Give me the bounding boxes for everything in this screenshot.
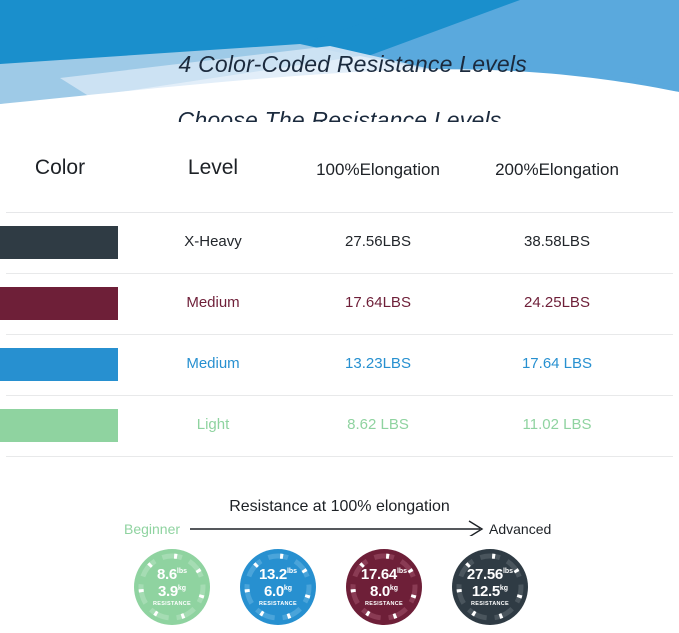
gauge-readout: 27.56lbs 12.5kg RESISTANCE bbox=[451, 548, 529, 626]
gauge-kg-unit: kg bbox=[390, 585, 398, 592]
gauge-caption: RESISTANCE bbox=[259, 602, 297, 608]
gauge-lbs: 13.2lbs bbox=[259, 567, 297, 582]
gauge-lbs: 8.6lbs bbox=[157, 567, 187, 582]
gauge-lbs-unit: lbs bbox=[397, 568, 407, 575]
gauge-kg: 8.0kg bbox=[370, 584, 398, 599]
gauge-caption: RESISTANCE bbox=[153, 602, 191, 608]
gauge-kg: 6.0kg bbox=[264, 584, 292, 599]
gauge-lbs-unit: lbs bbox=[287, 568, 297, 575]
column-header-elongation-200: 200%Elongation bbox=[495, 160, 619, 180]
cell-elongation-200: 24.25LBS bbox=[524, 294, 590, 311]
cell-level: Medium bbox=[186, 294, 239, 311]
table-header-row: Color Level 100%Elongation 200%Elongatio… bbox=[0, 128, 679, 213]
gauge-readout: 8.6lbs 3.9kg RESISTANCE bbox=[133, 548, 211, 626]
gauge-badge: 8.6lbs 3.9kg RESISTANCE bbox=[133, 548, 211, 626]
gauge-kg-value: 8.0 bbox=[370, 583, 390, 600]
title-line-1: 4 Color-Coded Resistance Levels bbox=[178, 51, 526, 77]
gauge-kg: 12.5kg bbox=[472, 584, 508, 599]
gauge-badge: 13.2lbs 6.0kg RESISTANCE bbox=[239, 548, 317, 626]
cell-elongation-100: 8.62 LBS bbox=[347, 416, 409, 433]
gauge-lbs-unit: lbs bbox=[177, 568, 187, 575]
cell-elongation-200: 11.02 LBS bbox=[523, 416, 592, 433]
gauge-caption: RESISTANCE bbox=[365, 602, 403, 608]
scale-label-advanced: Advanced bbox=[489, 521, 551, 537]
column-header-level: Level bbox=[188, 156, 238, 180]
arrow-right-icon bbox=[190, 518, 490, 536]
cell-level: Medium bbox=[186, 355, 239, 372]
gauge-kg: 3.9kg bbox=[158, 584, 186, 599]
gauge-caption: RESISTANCE bbox=[471, 602, 509, 608]
gauge-lbs-value: 13.2 bbox=[259, 566, 287, 583]
table-row: Medium 17.64LBS 24.25LBS bbox=[0, 274, 679, 335]
table-row: Medium 13.23LBS 17.64 LBS bbox=[0, 335, 679, 396]
scale-label-beginner: Beginner bbox=[124, 521, 180, 537]
gauge-lbs-value: 17.64 bbox=[361, 566, 397, 583]
gauge-lbs-value: 27.56 bbox=[467, 566, 503, 583]
table-row: Light 8.62 LBS 11.02 LBS bbox=[0, 396, 679, 457]
cell-elongation-200: 17.64 LBS bbox=[522, 355, 592, 372]
cell-elongation-100: 27.56LBS bbox=[345, 233, 411, 250]
gauge-readout: 13.2lbs 6.0kg RESISTANCE bbox=[239, 548, 317, 626]
gauge-badge: 27.56lbs 12.5kg RESISTANCE bbox=[451, 548, 529, 626]
table-row: X-Heavy 27.56LBS 38.58LBS bbox=[0, 213, 679, 274]
cell-level: Light bbox=[197, 416, 230, 433]
scale-caption: Resistance at 100% elongation bbox=[0, 498, 679, 516]
gauge-lbs: 17.64lbs bbox=[361, 567, 407, 582]
gauge-group: 8.6lbs 3.9kg RESISTANCE 13.2lbs 6.0kg RE… bbox=[0, 548, 679, 633]
resistance-scale: Resistance at 100% elongation Beginner A… bbox=[0, 498, 679, 542]
gauge-kg-value: 6.0 bbox=[264, 583, 284, 600]
gauge-kg-unit: kg bbox=[178, 585, 186, 592]
gauge-kg-unit: kg bbox=[500, 585, 508, 592]
color-swatch bbox=[0, 348, 118, 381]
color-swatch bbox=[0, 226, 118, 259]
gauge-kg-unit: kg bbox=[284, 585, 292, 592]
color-swatch bbox=[0, 287, 118, 320]
header-banner: 4 Color-Coded Resistance Levels Choose T… bbox=[0, 0, 679, 122]
resistance-table: Color Level 100%Elongation 200%Elongatio… bbox=[0, 128, 679, 457]
gauge-kg-value: 3.9 bbox=[158, 583, 178, 600]
gauge-badge: 17.64lbs 8.0kg RESISTANCE bbox=[345, 548, 423, 626]
cell-elongation-100: 13.23LBS bbox=[345, 355, 411, 372]
gauge-kg-value: 12.5 bbox=[472, 583, 500, 600]
row-divider bbox=[6, 456, 673, 457]
column-header-elongation-100: 100%Elongation bbox=[316, 160, 440, 180]
gauge-readout: 17.64lbs 8.0kg RESISTANCE bbox=[345, 548, 423, 626]
page-title: 4 Color-Coded Resistance Levels Choose T… bbox=[0, 22, 679, 122]
cell-elongation-100: 17.64LBS bbox=[345, 294, 411, 311]
title-line-2: Choose The Resistance Levels bbox=[0, 106, 679, 122]
gauge-lbs: 27.56lbs bbox=[467, 567, 513, 582]
cell-level: X-Heavy bbox=[184, 233, 242, 250]
cell-elongation-200: 38.58LBS bbox=[524, 233, 590, 250]
color-swatch bbox=[0, 409, 118, 442]
gauge-lbs-unit: lbs bbox=[503, 568, 513, 575]
column-header-color: Color bbox=[35, 156, 85, 180]
gauge-lbs-value: 8.6 bbox=[157, 566, 177, 583]
